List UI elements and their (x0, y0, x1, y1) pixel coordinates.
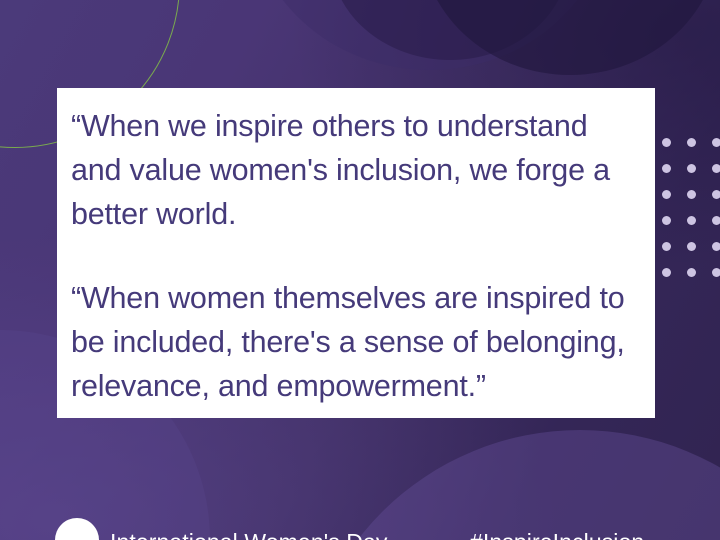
grid-dot (712, 138, 720, 147)
grid-dot (662, 268, 671, 277)
grid-dot (687, 242, 696, 251)
grid-dot (712, 216, 720, 225)
grid-dot (662, 216, 671, 225)
campaign-hashtag: #InspireInclusion (470, 529, 644, 540)
brand-logo-icon (55, 518, 99, 540)
grid-dot (712, 268, 720, 277)
grid-dot (662, 190, 671, 199)
grid-dot (712, 242, 720, 251)
grid-dot (662, 242, 671, 251)
dot-grid-pattern (662, 138, 720, 294)
grid-dot (687, 268, 696, 277)
quote-paragraph-one: “When we inspire others to understand an… (71, 104, 633, 236)
grid-dot (712, 164, 720, 173)
grid-dot (712, 190, 720, 199)
grid-dot (687, 216, 696, 225)
grid-dot (687, 138, 696, 147)
quote-graphic-canvas: “When we inspire others to understand an… (0, 0, 720, 540)
grid-dot (662, 138, 671, 147)
quote-paragraph-two: “When women themselves are inspired to b… (71, 276, 633, 408)
quote-paragraph-spacer (71, 236, 633, 276)
footer-bar: International Women's Day #InspireInclus… (0, 506, 720, 540)
grid-dot (687, 190, 696, 199)
organization-label: International Women's Day (110, 529, 388, 540)
grid-dot (687, 164, 696, 173)
grid-dot (662, 164, 671, 173)
quote-card: “When we inspire others to understand an… (57, 88, 655, 418)
